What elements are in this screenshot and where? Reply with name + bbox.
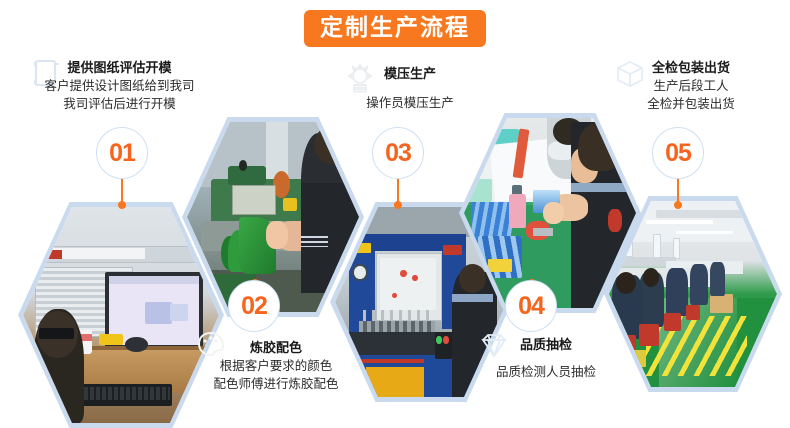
step-3-heading: 模压生产 <box>325 66 495 83</box>
step-2-heading: 炼胶配色 <box>186 340 366 357</box>
step-5-sub-line-1: 生产后段工人 <box>601 77 781 95</box>
step-4-text-block: 品质抽检 品质检测人员抽检 <box>466 337 626 381</box>
step-3-number-badge: 03 <box>372 127 424 179</box>
step-4-sub-line-1: 品质检测人员抽检 <box>466 363 626 381</box>
step-1-text-block: 提供图纸评估开模 客户提供设计图纸给到我司 我司评估后进行开模 <box>12 60 227 113</box>
step-4-heading: 品质抽检 <box>466 337 626 354</box>
connector-dot <box>394 201 402 209</box>
step-1-sub-line-1: 客户提供设计图纸给到我司 <box>12 77 227 95</box>
step-2-text-block: 炼胶配色 根据客户要求的颜色 配色师傅进行炼胶配色 <box>186 340 366 393</box>
step-5-connector <box>677 179 679 205</box>
step-3-sub-line-1: 操作员模压生产 <box>325 94 495 112</box>
step-1-connector <box>121 179 123 205</box>
step-5-text-block: 全检包装出货 生产后段工人 全检并包装出货 <box>601 60 781 113</box>
step-3-connector <box>397 179 399 205</box>
connector-dot <box>674 201 682 209</box>
connector-dot <box>118 201 126 209</box>
step-2-sub-line-1: 根据客户要求的颜色 <box>186 357 366 375</box>
step-4-number-badge: 04 <box>505 280 557 332</box>
step-1-heading: 提供图纸评估开模 <box>12 60 227 77</box>
step-2-number-badge: 02 <box>228 280 280 332</box>
step-5-number-badge: 05 <box>652 127 704 179</box>
step-2-sub-line-2: 配色师傅进行炼胶配色 <box>186 375 366 393</box>
step-1-number-badge: 01 <box>96 127 148 179</box>
production-flow-infographic: 定制生产流程 提供图纸评估开模 客户提供设计图纸给到我司 我司评估后进行开模 0… <box>0 0 790 428</box>
step-3-text-block: 模压生产 操作员模压生产 <box>325 66 495 112</box>
step-5-photo <box>604 196 782 392</box>
page-title: 定制生产流程 <box>304 10 486 47</box>
step-1-sub-line-2: 我司评估后进行开模 <box>12 95 227 113</box>
step-5-sub-line-2: 全检并包装出货 <box>601 95 781 113</box>
step-5-heading: 全检包装出货 <box>601 60 781 77</box>
